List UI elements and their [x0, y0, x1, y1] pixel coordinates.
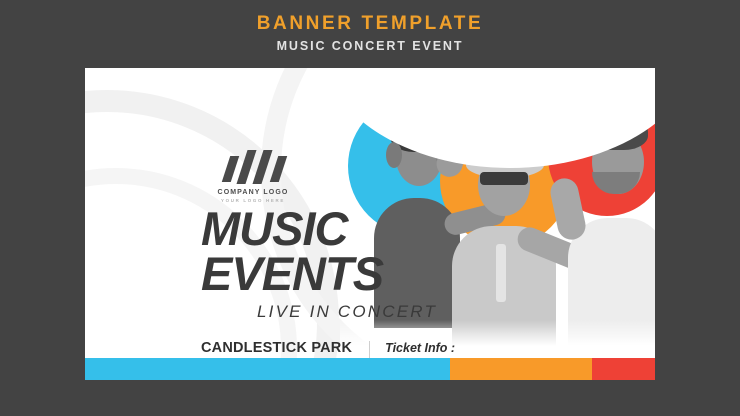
banner-card: COMPANY LOGO YOUR LOGO HERE MUSIC EVENTS…: [85, 68, 655, 380]
company-logo: COMPANY LOGO YOUR LOGO HERE: [205, 150, 301, 203]
venue-name: CANDLESTICK PARK: [201, 340, 352, 357]
logo-name: COMPANY LOGO: [205, 189, 301, 196]
bottom-color-bar: [85, 358, 655, 380]
bar-segment-orange: [450, 358, 593, 380]
page-subtitle: MUSIC CONCERT EVENT: [277, 37, 464, 55]
logo-mark-icon: [222, 150, 284, 184]
banner-headline: MUSIC EVENTS LIVE IN CONCERT: [201, 206, 437, 322]
page-header: BANNER TEMPLATE MUSIC CONCERT EVENT: [0, 0, 740, 68]
bar-segment-red: [592, 358, 655, 380]
page-title: BANNER TEMPLATE: [257, 13, 484, 35]
ticket-label: Ticket Info :: [385, 340, 486, 356]
headline-subtitle: LIVE IN CONCERT: [257, 302, 437, 322]
bar-segment-blue: [85, 358, 450, 380]
headline-line-2: EVENTS: [201, 251, 437, 296]
headline-line-1: MUSIC: [201, 206, 437, 251]
